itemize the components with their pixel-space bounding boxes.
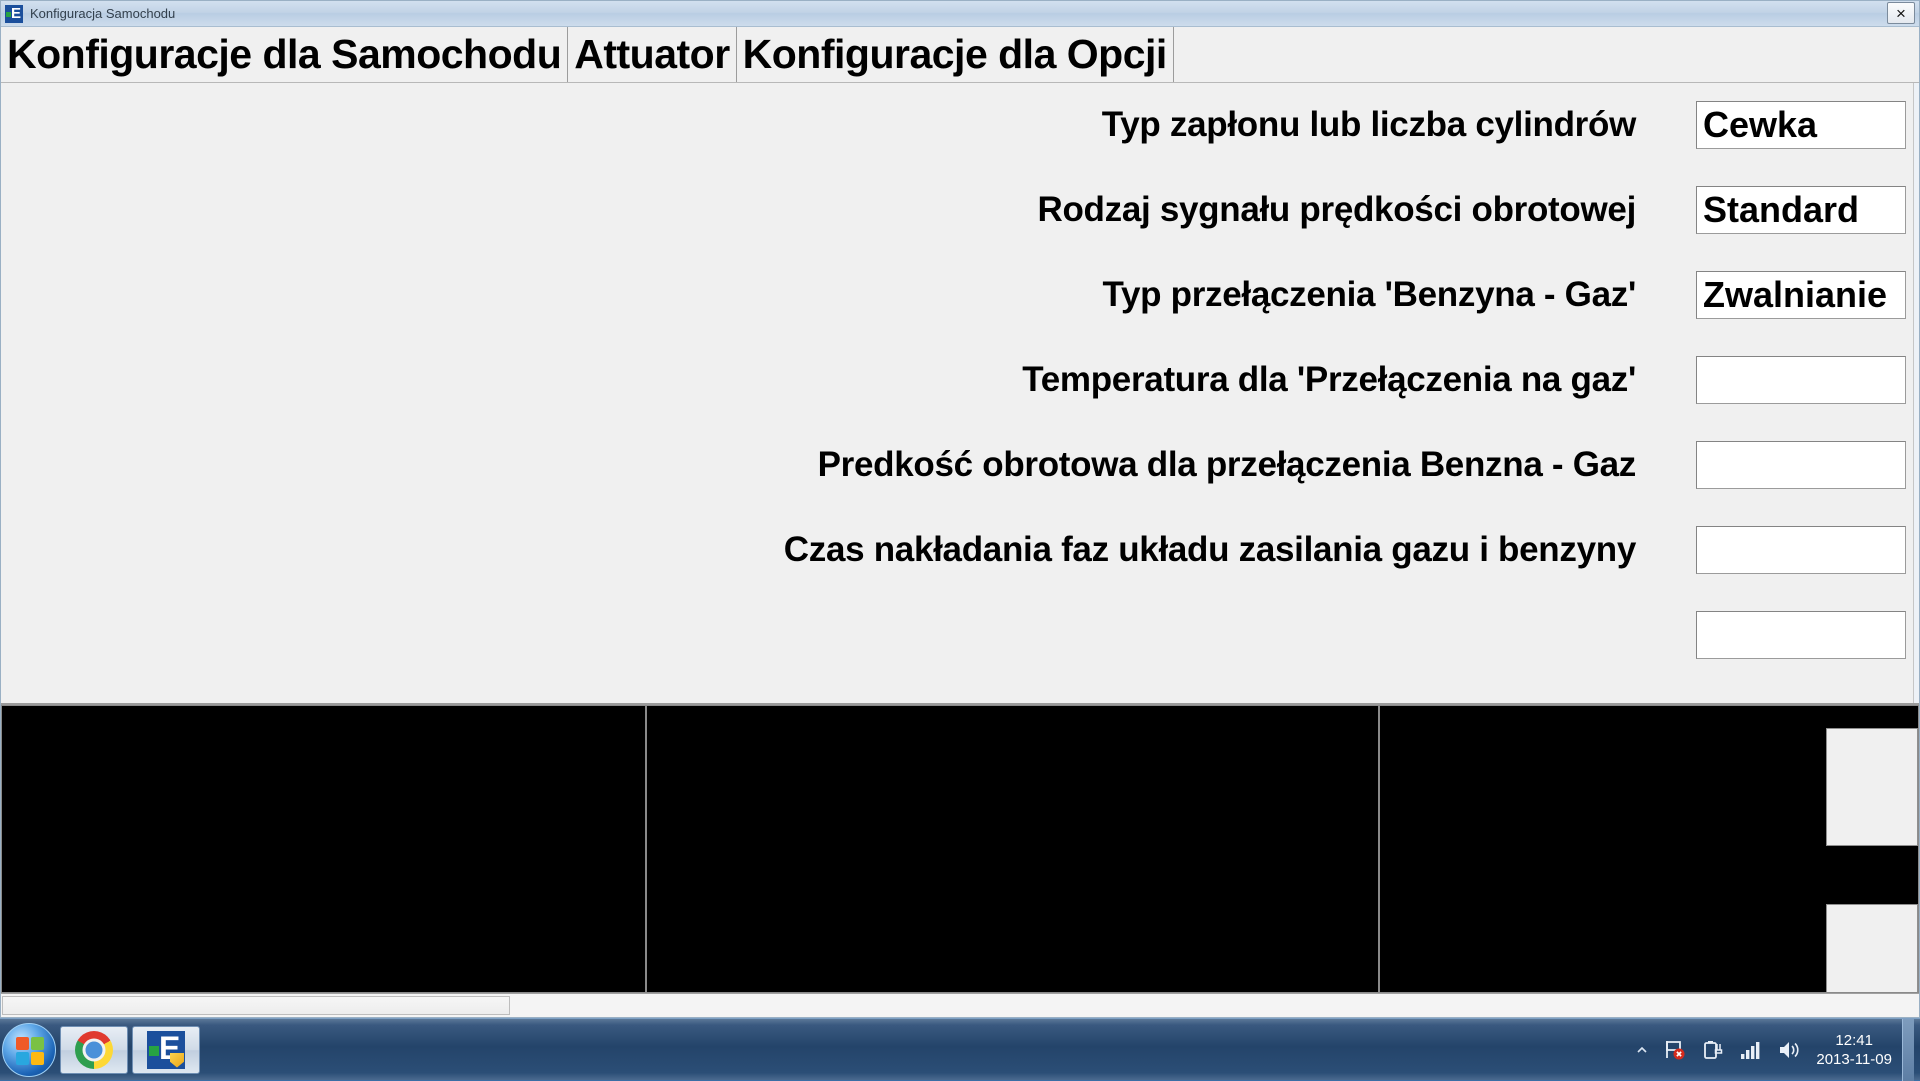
side-indicator-top[interactable]: [1826, 728, 1918, 846]
tab-konfiguracje-dla-opcji[interactable]: Konfiguracje dla Opcji: [737, 27, 1174, 82]
telemetry-value-rpm: 0 RPM: [360, 738, 409, 756]
form-input-ignition-type[interactable]: Cewka: [1696, 101, 1906, 149]
form-input-rpm-signal-type[interactable]: Standard: [1696, 186, 1906, 234]
form-label-switch-type: Typ przełączenia 'Benzyna - Gaz': [1, 275, 1696, 315]
telemetry-value-attuator: 0: [1302, 758, 1311, 776]
telemetry-value-idle-tps: 0 V: [414, 918, 438, 936]
telemetry-label-temperatura: Temperatura: [94, 828, 184, 846]
telemetry-label-pwa: PWA: [785, 896, 821, 914]
tab-label: Attuator: [574, 31, 729, 78]
tab-konfiguracje-dla-samochodu[interactable]: Konfiguracje dla Samochodu: [1, 27, 568, 82]
form-input-gas-switch-temperature[interactable]: [1696, 356, 1906, 404]
close-icon[interactable]: ×: [1887, 2, 1915, 24]
tab-bar: Konfiguracje dla Samochodu Attuator Konf…: [1, 27, 1919, 83]
orb-pane: [31, 1052, 44, 1065]
orb-pane: [16, 1037, 29, 1050]
form-label-phase-overlap-time: Czas nakładania faz układu zasilania gaz…: [1, 530, 1696, 570]
telemetry-value-pwa: 0: [1302, 896, 1311, 914]
window-titlebar[interactable]: Konfiguracja Samochodu ×: [1, 1, 1919, 27]
telemetry-bar: RPM 0 RPM Temperatura 0 °C Bieg jalowy T…: [1, 703, 1919, 993]
clock-date: 2013-11-09: [1816, 1050, 1892, 1069]
form-input-extra[interactable]: [1696, 611, 1906, 659]
application-window: Konfiguracja Samochodu × Konfiguracje dl…: [0, 0, 1920, 1018]
form-label-rpm-signal-type: Rodzaj sygnału prędkości obrotowej: [1, 190, 1696, 230]
orb-pane: [16, 1052, 29, 1065]
window-title: Konfiguracja Samochodu: [30, 6, 175, 21]
form-input-switch-type[interactable]: Zwalnianie: [1696, 271, 1906, 319]
taskbar-button-konfiguracja-samochodu[interactable]: [132, 1026, 200, 1074]
show-desktop-button[interactable]: [1902, 1019, 1914, 1081]
telemetry-label-tps: TPS: [1468, 896, 1499, 914]
telemetry-value-temperatura: 0 °C: [407, 828, 438, 846]
telemetry-label-attuator: Attuator: [785, 758, 841, 776]
battery-plug-icon[interactable]: [1701, 1038, 1725, 1062]
clock[interactable]: 12:41 2013-11-09: [1816, 1031, 1892, 1069]
desktop: Konfiguracja Samochodu × Konfiguracje dl…: [0, 0, 1920, 1080]
chevron-up-icon[interactable]: [1635, 1043, 1649, 1057]
configuration-form: Typ zapłonu lub liczba cylindrów Cewka R…: [1, 83, 1919, 703]
form-input-switch-rpm[interactable]: [1696, 441, 1906, 489]
form-row: Typ przełączenia 'Benzyna - Gaz' Zwalnia…: [1, 271, 1906, 319]
taskbar-button-chrome[interactable]: [60, 1026, 128, 1074]
speaker-icon[interactable]: [1777, 1039, 1803, 1061]
form-row: Rodzaj sygnału prędkości obrotowej Stand…: [1, 186, 1906, 234]
scrollbar-thumb[interactable]: [2, 996, 510, 1015]
telemetry-panel-middle: Attuator 0 PWA 0: [646, 705, 1379, 993]
form-row: Typ zapłonu lub liczba cylindrów Cewka: [1, 101, 1906, 149]
form-row: Predkość obrotowa dla przełączenia Benzn…: [1, 441, 1906, 489]
orb-pane: [31, 1037, 44, 1050]
system-tray: 12:41 2013-11-09: [1628, 1019, 1920, 1081]
chrome-icon: [75, 1031, 113, 1069]
signal-bars-icon[interactable]: [1739, 1039, 1763, 1061]
window-right-edge: [1913, 83, 1919, 703]
tab-label: Konfiguracje dla Samochodu: [7, 31, 561, 78]
tab-label: Konfiguracje dla Opcji: [743, 31, 1167, 78]
app-e-icon: [5, 5, 23, 23]
horizontal-scrollbar[interactable]: [1, 993, 1919, 1017]
telemetry-label-lambda: Lambda: [1462, 758, 1520, 776]
telemetry-value-tps: 0,00 V: [1658, 896, 1704, 914]
telemetry-panel-left: RPM 0 RPM Temperatura 0 °C Bieg jalowy T…: [1, 705, 646, 993]
clock-time: 12:41: [1816, 1031, 1892, 1050]
form-row: [1, 611, 1906, 659]
side-indicator-bottom[interactable]: [1826, 904, 1918, 993]
telemetry-label-idle-tps: Bieg jalowy TPS: [90, 918, 206, 936]
app-e-icon: [147, 1031, 185, 1069]
form-row: Czas nakładania faz układu zasilania gaz…: [1, 526, 1906, 574]
form-label-switch-rpm: Predkość obrotowa dla przełączenia Benzn…: [1, 445, 1696, 485]
form-row: Temperatura dla 'Przełączenia na gaz': [1, 356, 1906, 404]
taskbar: 12:41 2013-11-09: [0, 1018, 1920, 1080]
telemetry-panel-right: Lambda 0,00 V TPS 0,00 V: [1379, 705, 1919, 993]
form-input-phase-overlap-time[interactable]: [1696, 526, 1906, 574]
telemetry-value-lambda: 0,00 V: [1664, 758, 1710, 776]
tab-attuator[interactable]: Attuator: [568, 27, 736, 82]
form-label-ignition-type: Typ zapłonu lub liczba cylindrów: [1, 105, 1696, 145]
shield-icon: [170, 1053, 184, 1068]
start-button-icon[interactable]: [2, 1023, 56, 1077]
telemetry-label-rpm: RPM: [80, 738, 116, 756]
form-label-gas-switch-temperature: Temperatura dla 'Przełączenia na gaz': [1, 360, 1696, 400]
flag-alert-icon[interactable]: [1663, 1038, 1687, 1062]
